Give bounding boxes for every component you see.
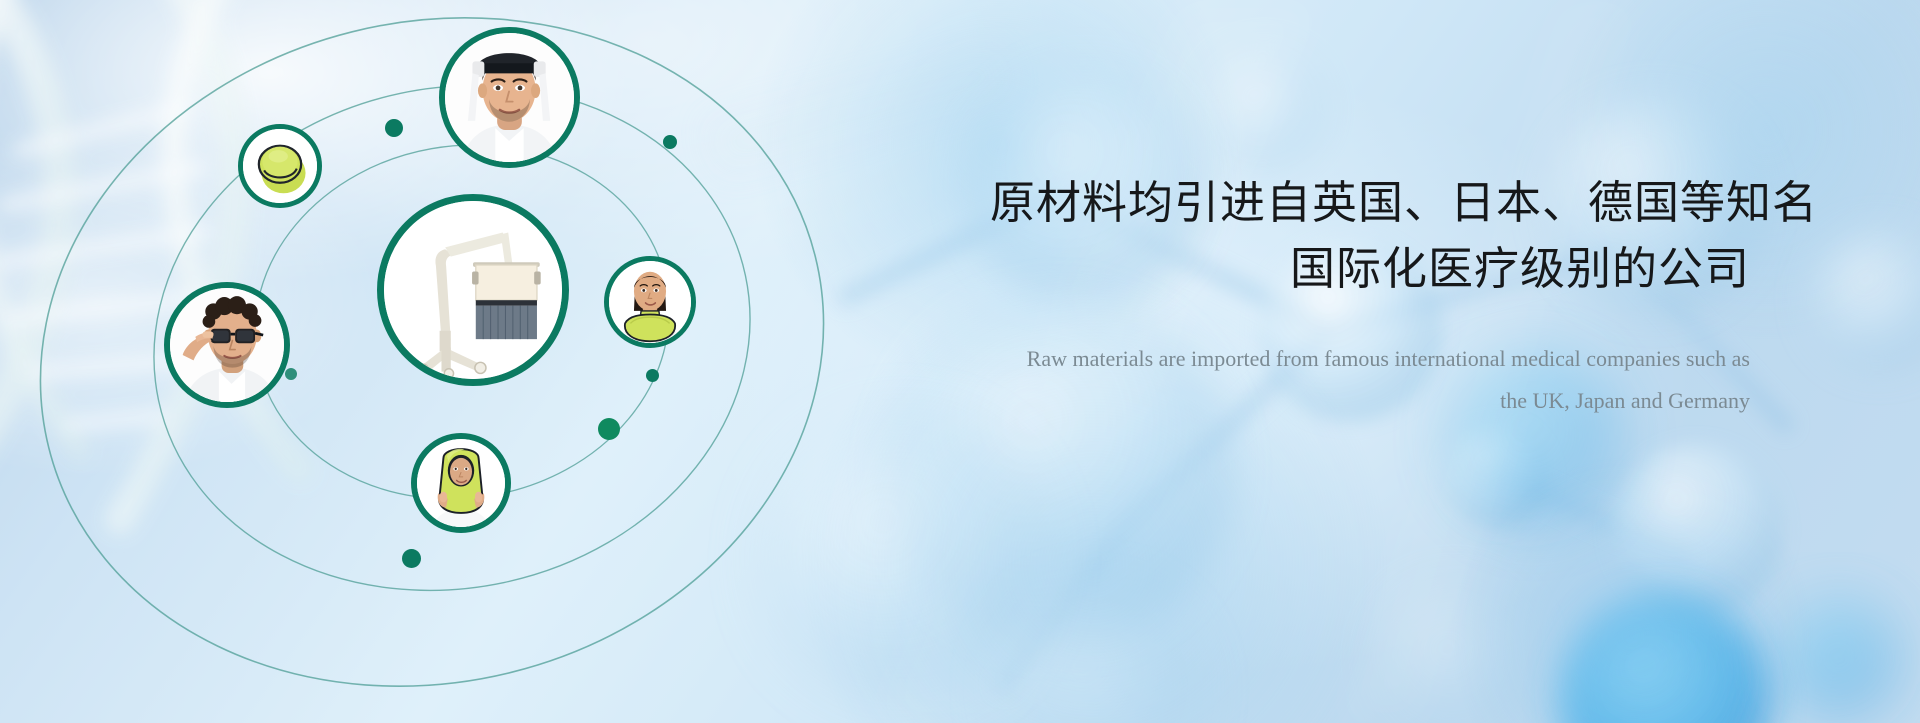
technician-headgear-photo bbox=[445, 33, 574, 162]
subtitle-block: Raw materials are imported from famous i… bbox=[990, 338, 1750, 422]
node-technician-headgear[interactable] bbox=[439, 27, 580, 168]
node-protective-hood[interactable] bbox=[411, 433, 511, 533]
lead-cap-photo bbox=[243, 129, 317, 203]
banner-text-block: 原材料均引进自英国、日本、德国等知名 国际化医疗级别的公司 Raw materi… bbox=[990, 172, 1750, 422]
orbit-dot-4 bbox=[646, 369, 659, 382]
orbit-dot-2 bbox=[663, 135, 677, 149]
node-thyroid-collar[interactable] bbox=[604, 256, 696, 348]
mobile-x-ray-barrier-photo bbox=[384, 201, 562, 379]
heading-line-2: 国际化医疗级别的公司 bbox=[990, 238, 1750, 300]
orbit-dot-3 bbox=[285, 368, 297, 380]
thyroid-collar-photo bbox=[609, 261, 691, 343]
technician-glasses-photo bbox=[170, 288, 284, 402]
protective-hood-photo bbox=[417, 439, 505, 527]
orbit-dot-6 bbox=[402, 549, 421, 568]
orbit-dot-1 bbox=[385, 119, 403, 137]
subtitle-line-2: the UK, Japan and Germany bbox=[990, 380, 1750, 422]
subtitle-line-1: Raw materials are imported from famous i… bbox=[990, 338, 1750, 380]
heading-line-1: 原材料均引进自英国、日本、德国等知名 bbox=[990, 172, 1750, 234]
node-technician-glasses[interactable] bbox=[164, 282, 290, 408]
product-orbit-graphic bbox=[0, 0, 900, 723]
hero-banner: 原材料均引进自英国、日本、德国等知名 国际化医疗级别的公司 Raw materi… bbox=[0, 0, 1920, 723]
node-lead-cap[interactable] bbox=[238, 124, 322, 208]
node-mobile-x-ray-barrier[interactable] bbox=[377, 194, 569, 386]
orbit-dot-5 bbox=[598, 418, 620, 440]
